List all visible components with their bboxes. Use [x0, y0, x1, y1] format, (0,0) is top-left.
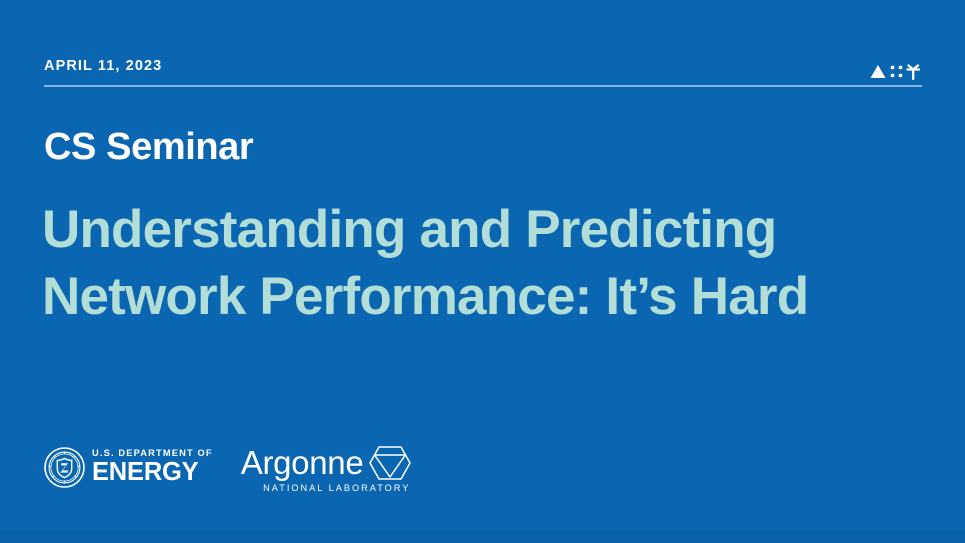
argonne-subtitle: NATIONAL LABORATORY [241, 483, 413, 493]
doe-agency-label: ENERGY [92, 460, 213, 486]
presentation-slide: APRIL 11, 2023 CS Semi [0, 0, 965, 543]
slide-eyebrow: CS Seminar [44, 128, 253, 166]
bottom-accent-band [0, 531, 965, 543]
footer-logos: U.S. DEPARTMENT OF ENERGY Argonne [44, 442, 412, 492]
argonne-name-row: Argonne [241, 443, 413, 482]
argonne-wordmark: Argonne NATIONAL LABORATORY [241, 443, 413, 493]
argonne-name: Argonne [241, 445, 364, 481]
doe-wordmark: U.S. DEPARTMENT OF ENERGY [92, 449, 213, 486]
doe-department-label: U.S. DEPARTMENT OF [92, 449, 213, 458]
doe-logo: U.S. DEPARTMENT OF ENERGY [44, 444, 213, 490]
slide-date: APRIL 11, 2023 [44, 58, 162, 74]
argonne-logo: Argonne NATIONAL LABORATORY [241, 443, 413, 491]
slide-title: Understanding and Predicting Network Per… [42, 196, 942, 330]
slide-title-line-2: Network Performance: It’s Hard [42, 263, 942, 330]
slide-header: APRIL 11, 2023 [44, 58, 922, 92]
doe-seal-icon [44, 447, 85, 488]
slide-title-line-1: Understanding and Predicting [42, 196, 942, 263]
header-divider [44, 85, 922, 87]
argonne-hexagon-icon [368, 444, 412, 482]
argonne-glyph-mark-icon [868, 61, 922, 83]
